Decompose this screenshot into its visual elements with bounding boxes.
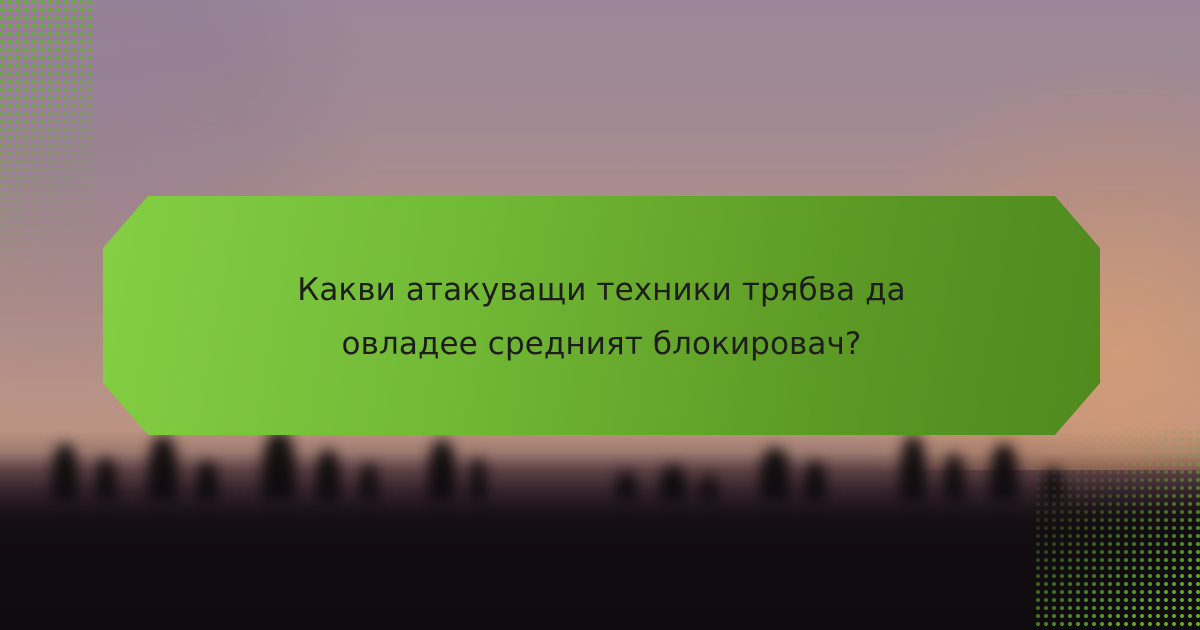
foreground-ground (0, 496, 1200, 630)
page-title: Какви атакуващи техники трябва да овладе… (222, 264, 982, 371)
silhouette-figure (52, 444, 78, 502)
silhouette-figure (262, 432, 296, 502)
title-banner: Какви атакуващи техники трябва да овладе… (103, 196, 1100, 435)
silhouette-figure (316, 450, 340, 502)
silhouette-figure (990, 444, 1018, 502)
social-card-canvas: Какви атакуващи техники трябва да овладе… (0, 0, 1200, 630)
silhouette-figure (148, 436, 178, 502)
silhouette-figure (428, 440, 456, 502)
silhouette-figure (760, 448, 790, 502)
silhouette-figure (900, 436, 926, 502)
silhouette-figure (944, 454, 964, 502)
